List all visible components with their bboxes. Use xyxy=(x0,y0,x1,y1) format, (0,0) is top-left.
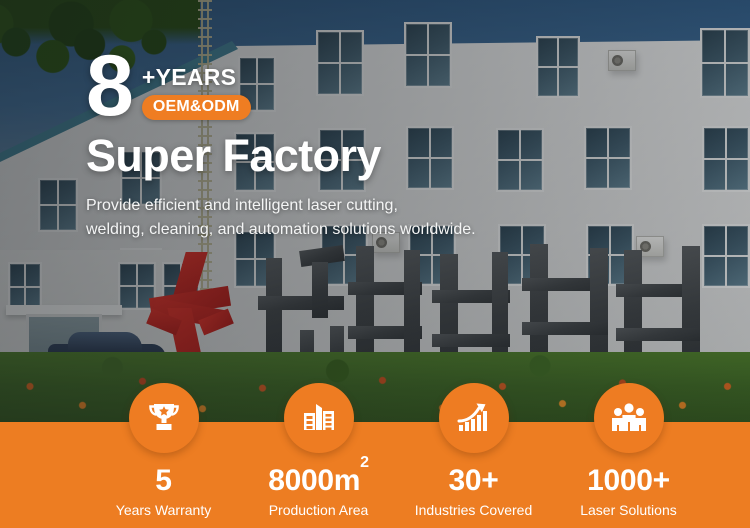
stat-years-warranty: 5 Years Warranty xyxy=(86,383,241,528)
stat-value: 8000m2 xyxy=(268,466,369,496)
stat-label: Laser Solutions xyxy=(580,503,677,517)
stat-value-exponent: 2 xyxy=(360,454,369,471)
page-title: Super Factory xyxy=(86,132,566,181)
oem-odm-badge: OEM&ODM xyxy=(142,95,251,120)
years-number: 8 xyxy=(86,47,132,126)
stat-label: Years Warranty xyxy=(116,503,211,517)
stat-value-number: 8000m xyxy=(268,464,360,497)
stat-label: Industries Covered xyxy=(415,503,533,517)
growth-chart-icon xyxy=(439,383,509,453)
stat-laser-solutions: 1000+ Laser Solutions xyxy=(551,383,706,528)
subtitle: Provide efficient and intelligent laser … xyxy=(86,194,566,243)
years-stack: +YEARS OEM&ODM xyxy=(142,64,251,126)
people-group-icon xyxy=(594,383,664,453)
buildings-icon xyxy=(284,383,354,453)
stat-industries-covered: 30+ Industries Covered xyxy=(396,383,551,528)
subtitle-line-1: Provide efficient and intelligent laser … xyxy=(86,194,566,218)
stats-row: 5 Years Warranty 8000m2 xyxy=(0,383,750,528)
trophy-icon xyxy=(129,383,199,453)
stat-value: 5 xyxy=(155,466,171,496)
factory-promo-banner: 8 +YEARS OEM&ODM Super Factory Provide e… xyxy=(0,0,750,528)
headline-block: 8 +YEARS OEM&ODM Super Factory Provide e… xyxy=(86,34,566,242)
stat-value: 1000+ xyxy=(587,466,670,496)
years-suffix: +YEARS xyxy=(142,64,251,90)
stat-label: Production Area xyxy=(269,503,369,517)
stat-value: 30+ xyxy=(449,466,499,496)
subtitle-line-2: welding, cleaning, and automation soluti… xyxy=(86,218,566,242)
years-row: 8 +YEARS OEM&ODM xyxy=(86,34,566,126)
stat-production-area: 8000m2 Production Area xyxy=(241,383,396,528)
